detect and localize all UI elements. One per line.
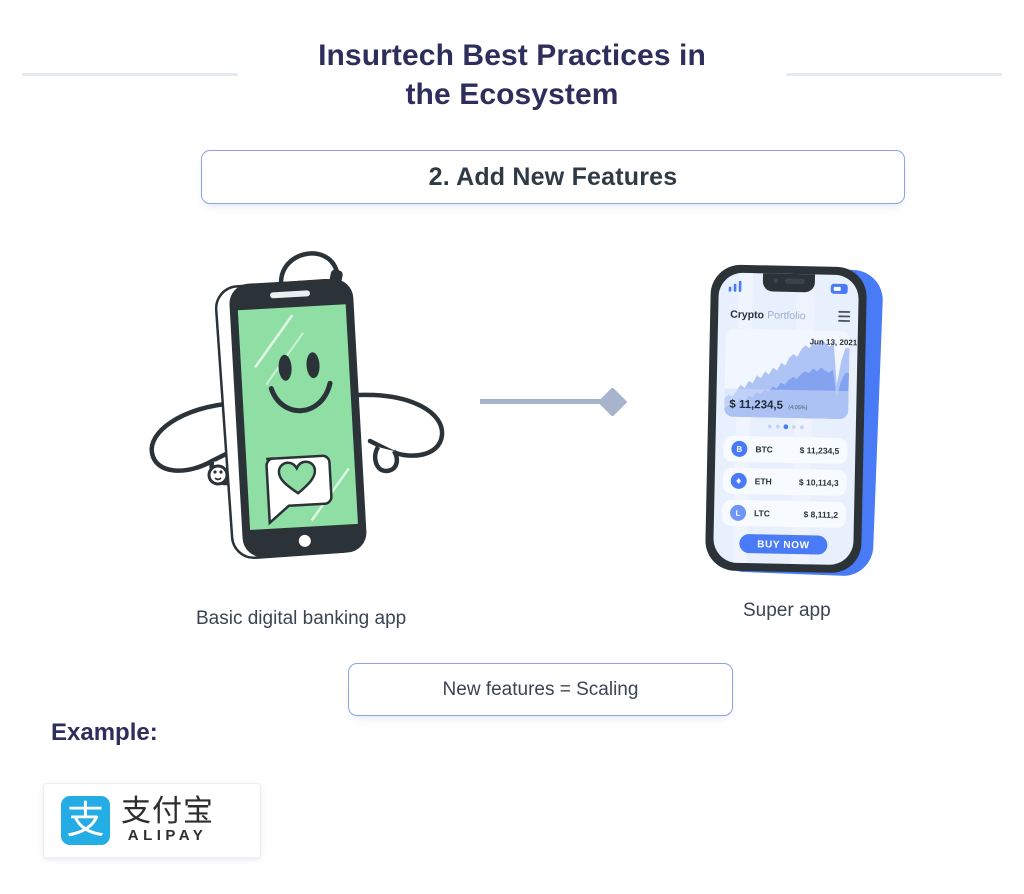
crypto-app-phone-illustration: Crypto Portfolio Jun 13, 2021 $ 11,234,5…	[698, 262, 894, 587]
caption-basic-app: Basic digital banking app	[196, 608, 406, 630]
svg-text:B: B	[736, 445, 742, 454]
alipay-mark-glyph: 支	[61, 801, 110, 839]
svg-text:$ 10,114,3: $ 10,114,3	[799, 477, 839, 488]
page-title-line-2: the Ecosystem	[0, 75, 1024, 114]
svg-text:Portfolio: Portfolio	[767, 309, 806, 322]
svg-text:ETH: ETH	[755, 476, 772, 486]
scaling-note-box[interactable]: New features = Scaling	[348, 663, 733, 716]
caption-super-app: Super app	[743, 600, 831, 622]
svg-text:$ 8,111,2: $ 8,111,2	[803, 509, 838, 520]
hamburger-menu-icon	[838, 311, 850, 322]
svg-text:Crypto: Crypto	[730, 309, 764, 322]
crypto-phone-svg: Crypto Portfolio Jun 13, 2021 $ 11,234,5…	[698, 262, 894, 582]
svg-text:BUY NOW: BUY NOW	[757, 539, 810, 551]
header-rule-left	[22, 73, 238, 76]
phone-character-svg	[140, 225, 480, 585]
svg-text:Jun 13, 2021: Jun 13, 2021	[810, 337, 858, 347]
svg-text:L: L	[735, 509, 740, 518]
battery-icon	[831, 284, 848, 294]
alipay-wordmark: 支付宝 ALIPAY	[121, 797, 214, 844]
phone-character-illustration	[140, 225, 480, 590]
transition-arrow	[480, 388, 632, 416]
transition-arrow-svg	[480, 388, 632, 416]
svg-text:$ 11,234,5: $ 11,234,5	[729, 399, 784, 412]
alipay-wordmark-cn: 支付宝	[121, 797, 214, 827]
example-label: Example:	[51, 719, 158, 747]
svg-text:(4.05%): (4.05%)	[788, 405, 808, 411]
step-header-label: 2. Add New Features	[429, 163, 678, 192]
alipay-logo-card[interactable]: 支 支付宝 ALIPAY	[43, 783, 261, 858]
header-rule-right	[786, 73, 1002, 76]
scaling-note-label: New features = Scaling	[443, 679, 639, 701]
page-title-line-1: Insurtech Best Practices in	[0, 36, 1024, 75]
svg-text:BTC: BTC	[755, 444, 773, 454]
alipay-wordmark-en: ALIPAY	[121, 827, 214, 844]
svg-text:$ 11,234,5: $ 11,234,5	[800, 445, 840, 456]
svg-text:LTC: LTC	[754, 508, 770, 518]
svg-text:♦: ♦	[735, 477, 742, 486]
step-header-box[interactable]: 2. Add New Features	[201, 150, 905, 204]
alipay-mark-icon: 支	[61, 796, 110, 845]
